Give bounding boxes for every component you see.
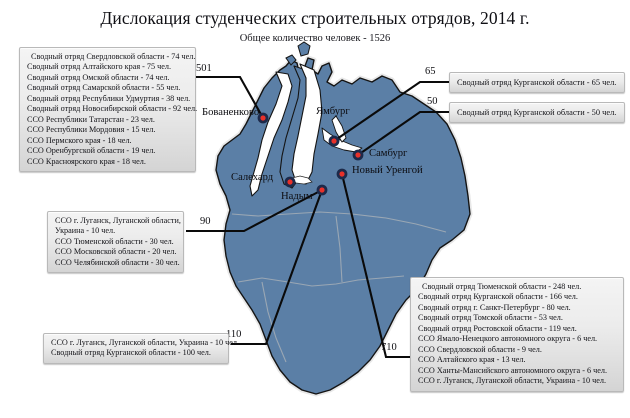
callout-line: Сводный отряд Новосибирской области - 92… (27, 104, 189, 114)
callout-line: ССО Ханты-Мансийского автономного округа… (418, 366, 617, 376)
callout-box-bottom-left: ССО г. Луганск, Луганской области, Украи… (43, 333, 229, 364)
city-marker-nadym (317, 185, 328, 196)
callout-line: ССО Челябинской области - 30 чел. (55, 258, 177, 268)
callout-line: ССО Ямало-Ненецкого автономного округа -… (418, 334, 617, 344)
city-marker-salekhard (285, 177, 296, 188)
city-marker-novy-urengoy (337, 169, 348, 180)
callout-line: Сводный отряд Тюменской области - 248 че… (418, 282, 617, 292)
city-label-yamburg: Ямбург (316, 106, 350, 117)
city-label-nadym: Надым (281, 191, 313, 202)
city-label-salekhard: Салехард (231, 172, 273, 183)
callout-box-northeast-2: Сводный отряд Курганской области - 50 че… (449, 102, 625, 123)
callout-line: ССО Московской области - 20 чел. (55, 247, 177, 257)
callout-line: Сводный отряд Алтайского края - 75 чел. (27, 62, 189, 72)
callout-line: Сводный отряд Курганской области - 166 ч… (418, 292, 617, 302)
callout-line: Украина - 10 чел. (55, 226, 177, 236)
callout-line: ССО Красноярского края - 18 чел. (27, 157, 189, 167)
leader-value-65: 65 (425, 66, 436, 77)
city-label-novy-urengoy: Новый Уренгой (352, 165, 423, 176)
city-marker-samburg (353, 150, 364, 161)
leader-value-50: 50 (427, 96, 438, 107)
callout-line: Сводный отряд Курганской области - 65 че… (457, 77, 618, 88)
city-label-bovanenkovo: Бованенково (202, 107, 259, 118)
callout-line: Сводный отряд Самарской области - 55 чел… (27, 83, 189, 93)
callout-box-southeast: Сводный отряд Тюменской области - 248 че… (410, 277, 624, 392)
callout-box-southwest: ССО г. Луганск, Луганской области, Украи… (47, 211, 184, 273)
callout-line: Сводный отряд Омской области - 74 чел. (27, 73, 189, 83)
city-marker-bovanenkovo (258, 113, 269, 124)
callout-line: ССО Оренбургской области - 19 чел. (27, 146, 189, 156)
callout-line: ССО Пермского края - 18 чел. (27, 136, 189, 146)
callout-line: Сводный отряд Республики Удмуртия - 38 ч… (27, 94, 189, 104)
callout-line: Сводный отряд Курганской области - 100 ч… (51, 348, 222, 358)
city-label-samburg: Самбург (369, 148, 407, 159)
callout-line: ССО г. Луганск, Луганской области, Украи… (418, 376, 617, 386)
callout-line: Сводный отряд Ростовской области - 119 ч… (418, 324, 617, 334)
leader-value-501: 501 (196, 63, 212, 74)
callout-line: ССО Тюменской области - 30 чел. (55, 237, 177, 247)
callout-box-west: Сводный отряд Свердловской области - 74 … (19, 47, 196, 172)
callout-line: Сводный отряд Томской области - 53 чел. (418, 313, 617, 323)
callout-box-northeast-1: Сводный отряд Курганской области - 65 че… (449, 72, 625, 93)
leader-value-710: 710 (381, 342, 397, 353)
callout-line: Сводный отряд Свердловской области - 74 … (27, 52, 189, 62)
callout-line: ССО Республики Мордовия - 15 чел. (27, 125, 189, 135)
callout-line: ССО г. Луганск, Луганской области, Украи… (51, 338, 222, 348)
callout-line: ССО Свердловской области - 9 чел. (418, 345, 617, 355)
callout-line: ССО Республики Татарстан - 23 чел. (27, 115, 189, 125)
callout-line: ССО г. Луганск, Луганской области, (55, 216, 177, 226)
callout-line: Сводный отряд Курганской области - 50 че… (457, 107, 618, 118)
infographic-canvas: Дислокация студенческих строительных отр… (0, 0, 630, 418)
callout-line: ССО Алтайского края - 13 чел. (418, 355, 617, 365)
leader-value-90: 90 (200, 216, 211, 227)
city-marker-yamburg (329, 136, 340, 147)
callout-line: Сводный отряд г. Санкт-Петербург - 80 че… (418, 303, 617, 313)
